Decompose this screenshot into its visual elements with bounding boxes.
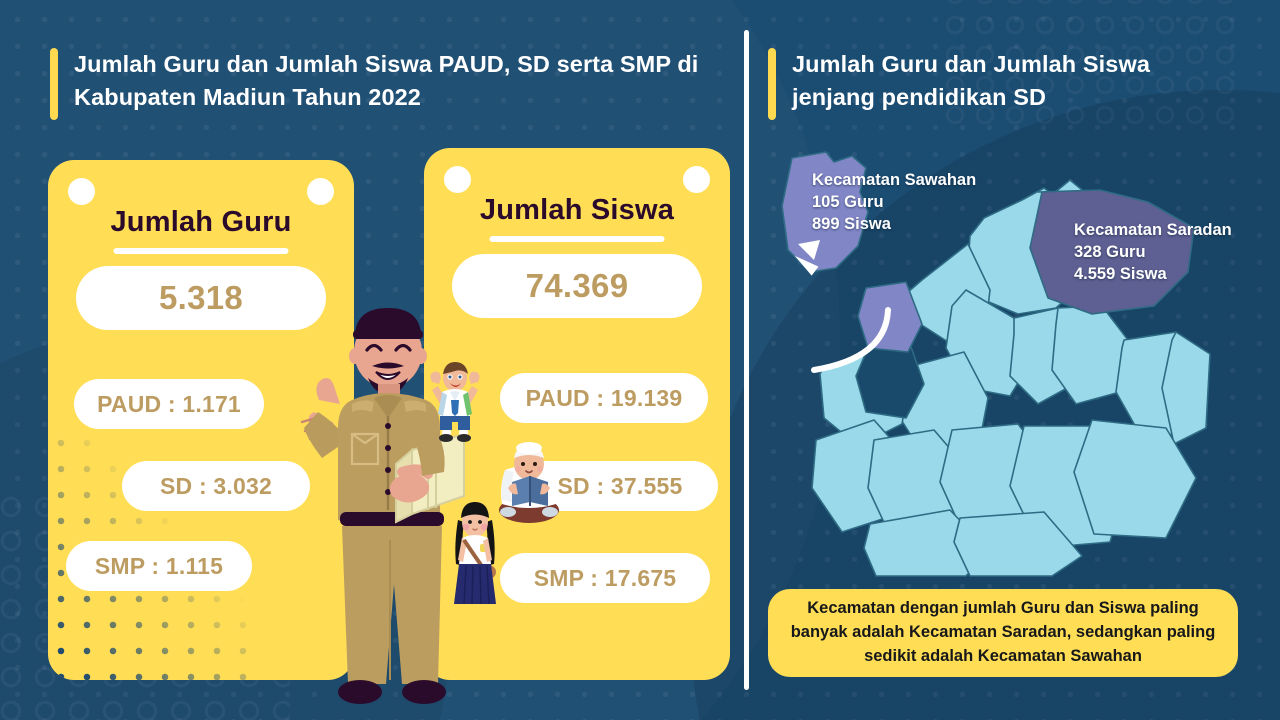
title-accent-bar <box>50 48 58 120</box>
student-boy-cheering-illustration <box>424 358 486 444</box>
vertical-divider <box>744 30 749 690</box>
map-kabupaten-madiun: Kecamatan Sawahan 105 Guru 899 Siswa Kec… <box>762 140 1262 580</box>
punch-hole-icon <box>307 178 334 205</box>
title-accent-bar <box>768 48 776 120</box>
map-label-sawahan-students: 899 Siswa <box>812 214 976 236</box>
card-title-underline <box>114 248 289 254</box>
right-title-text: Jumlah Guru dan Jumlah Siswa jenjang pen… <box>792 48 1238 115</box>
map-label-saradan-teachers: 328 Guru <box>1074 242 1232 264</box>
right-panel-title: Jumlah Guru dan Jumlah Siswa jenjang pen… <box>768 48 1238 120</box>
card-title-guru: Jumlah Guru <box>48 206 354 239</box>
map-label-sawahan: Kecamatan Sawahan 105 Guru 899 Siswa <box>812 170 976 236</box>
infographic-canvas: Jumlah Guru dan Jumlah Siswa PAUD, SD se… <box>0 0 1280 720</box>
card-title-underline <box>490 236 665 242</box>
level-pill-siswa-paud: PAUD : 19.139 <box>500 373 708 423</box>
level-pill-siswa-smp: SMP : 17.675 <box>500 553 710 603</box>
card-title-siswa: Jumlah Siswa <box>424 194 730 227</box>
punch-hole-icon <box>444 166 471 193</box>
level-pill-guru-paud: PAUD : 1.171 <box>74 379 264 429</box>
conclusion-text: Kecamatan dengan jumlah Guru dan Siswa p… <box>786 597 1220 669</box>
map-label-saradan-district: Kecamatan Saradan <box>1074 220 1232 242</box>
punch-hole-icon <box>68 178 95 205</box>
left-title-text: Jumlah Guru dan Jumlah Siswa PAUD, SD se… <box>74 48 710 115</box>
level-pill-guru-smp: SMP : 1.115 <box>66 541 252 591</box>
conclusion-box: Kecamatan dengan jumlah Guru dan Siswa p… <box>768 589 1238 677</box>
map-label-sawahan-district: Kecamatan Sawahan <box>812 170 976 192</box>
left-panel-title: Jumlah Guru dan Jumlah Siswa PAUD, SD se… <box>50 48 710 120</box>
map-label-saradan: Kecamatan Saradan 328 Guru 4.559 Siswa <box>1074 220 1232 286</box>
punch-hole-icon <box>683 166 710 193</box>
map-label-sawahan-teachers: 105 Guru <box>812 192 976 214</box>
student-girl-illustration <box>444 500 506 612</box>
map-label-saradan-students: 4.559 Siswa <box>1074 264 1232 286</box>
